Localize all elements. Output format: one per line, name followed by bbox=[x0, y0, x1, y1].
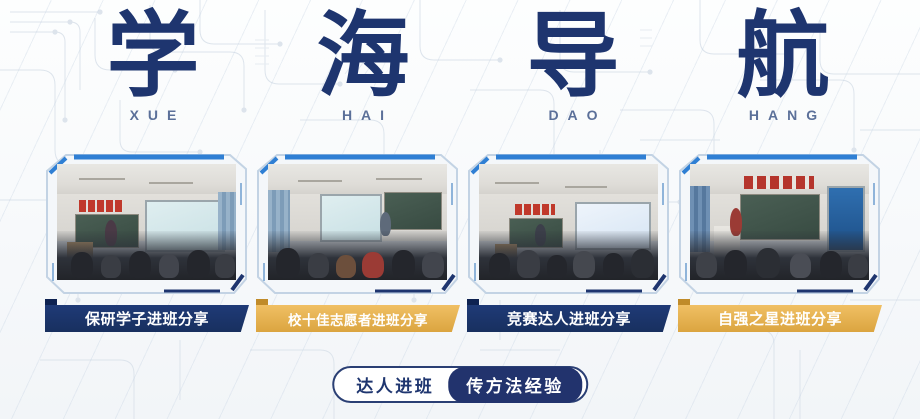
title-pinyin-3: DAO bbox=[539, 107, 606, 123]
title-pinyin-4: HANG bbox=[740, 107, 826, 123]
gallery-card[interactable]: 保研学子进班分享 bbox=[44, 153, 249, 333]
title-unit-3: 导 DAO bbox=[497, 10, 649, 123]
card-photo bbox=[479, 164, 658, 280]
card-photo bbox=[57, 164, 236, 280]
card-label-text: 自强之星进班分享 bbox=[718, 308, 842, 329]
title-unit-2: 海 HAI bbox=[287, 10, 439, 123]
title-pinyin-2: HAI bbox=[333, 107, 393, 123]
card-label-text: 校十佳志愿者进班分享 bbox=[288, 309, 428, 329]
title-pinyin-1: XUE bbox=[121, 107, 186, 123]
title-unit-1: 学 XUE bbox=[77, 10, 229, 123]
card-label-text: 保研学子进班分享 bbox=[85, 308, 209, 329]
gallery-card[interactable]: 竞赛达人进班分享 bbox=[466, 153, 671, 333]
card-label-ribbon[interactable]: 竞赛达人进班分享 bbox=[467, 299, 671, 332]
tagline-right-pill: 传方法经验 bbox=[448, 367, 582, 403]
title-character-row: 学 XUE 海 HAI 导 DAO 航 HANG bbox=[0, 10, 920, 123]
title-unit-4: 航 HANG bbox=[707, 10, 859, 123]
banner-root: 学 XUE 海 HAI 导 DAO 航 HANG bbox=[0, 0, 920, 419]
gallery-card[interactable]: 校十佳志愿者进班分享 bbox=[255, 153, 460, 333]
ribbon-body: 自强之星进班分享 bbox=[678, 305, 882, 332]
ribbon-body: 校十佳志愿者进班分享 bbox=[256, 305, 460, 332]
card-photo bbox=[268, 164, 447, 280]
ribbon-body: 保研学子进班分享 bbox=[45, 305, 249, 332]
tagline-left-text: 达人进班 bbox=[356, 372, 448, 397]
title-han-1: 学 bbox=[107, 10, 200, 102]
card-label-text: 竞赛达人进班分享 bbox=[507, 308, 631, 329]
card-label-ribbon[interactable]: 自强之星进班分享 bbox=[678, 299, 882, 332]
title-han-4: 航 bbox=[737, 10, 830, 102]
page-title: 学 XUE 海 HAI 导 DAO 航 HANG bbox=[0, 10, 920, 145]
ribbon-body: 竞赛达人进班分享 bbox=[467, 305, 671, 332]
card-photo bbox=[690, 164, 869, 280]
card-label-ribbon[interactable]: 保研学子进班分享 bbox=[45, 299, 249, 332]
card-label-ribbon[interactable]: 校十佳志愿者进班分享 bbox=[256, 299, 460, 332]
title-han-3: 导 bbox=[527, 10, 620, 102]
gallery-card[interactable]: 自强之星进班分享 bbox=[677, 153, 882, 333]
title-han-2: 海 bbox=[317, 10, 410, 102]
card-gallery: 保研学子进班分享 bbox=[44, 153, 882, 333]
bottom-tagline-banner[interactable]: 达人进班 传方法经验 bbox=[332, 366, 588, 403]
